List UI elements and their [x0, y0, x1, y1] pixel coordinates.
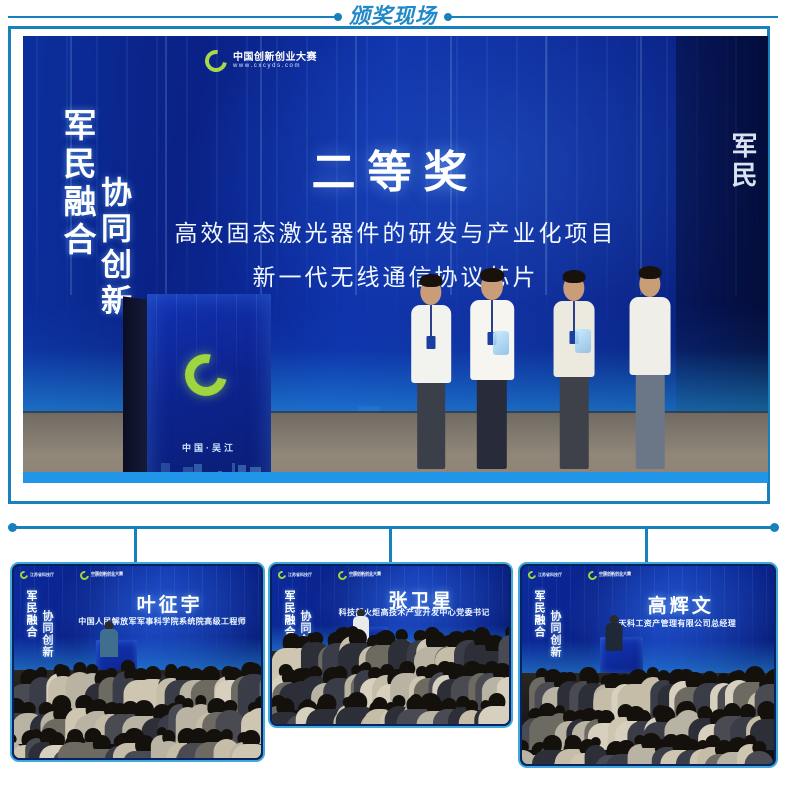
thumb3-slogan-b: 协同创新 [547, 610, 563, 658]
competition-c-mark-icon [201, 46, 232, 77]
connector-rule [12, 526, 775, 529]
thumbnail-row: 江苏省科技厅 中国创新创业大赛 www.cxcyds.com 军民融合 协同创新… [0, 556, 787, 786]
award-recipient-3 [543, 269, 605, 469]
award-recipient-4 [619, 265, 681, 469]
thumb3-speaker-name: 高辉文 [593, 591, 769, 618]
audience-member [478, 693, 509, 724]
thumb3-provincial-logo-label: 江苏省科技厅 [538, 572, 562, 578]
thumb3-audience [522, 673, 774, 764]
award-recipient-1 [401, 273, 461, 469]
thumb1-competition-logo-icon [78, 569, 91, 582]
thumb3-competition-url: www.cxcyds.com [599, 576, 631, 579]
thumb2-audience [272, 651, 509, 724]
thumbnail-speaker-1[interactable]: 江苏省科技厅 中国创新创业大赛 www.cxcyds.com 军民融合 协同创新… [10, 562, 265, 762]
thumb3-competition-logo-icon [586, 569, 599, 582]
connector-dot-right-icon [770, 523, 779, 532]
thumb3-competition-logo: 中国创新创业大赛 www.cxcyds.com [588, 571, 631, 580]
podium-location-label: 中国·吴江 [147, 441, 271, 454]
thumb2-competition-logo-icon [336, 569, 349, 582]
thumb2-competition-url: www.cxcyds.com [349, 576, 381, 579]
trophy-3 [575, 329, 591, 353]
thumbnail-speaker-3[interactable]: 江苏省科技厅 中国创新创业大赛 www.cxcyds.com 军民融合 协同创新… [518, 562, 778, 768]
thumb3-provincial-logo: 江苏省科技厅 [528, 571, 562, 579]
thumb1-speaker-name: 叶征宇 [83, 590, 256, 617]
header-rule-right [448, 16, 778, 18]
thumb1-competition-logo: 中国创新创业大赛 www.cxcyds.com [80, 571, 123, 580]
podium-face: 中国·吴江 [147, 294, 271, 483]
thumbnail-speaker-2[interactable]: 江苏省科技厅 中国创新创业大赛 www.cxcyds.com 军民融合 协同创新… [268, 562, 513, 728]
thumb1-audience [14, 670, 261, 758]
thumb2-provincial-logo-label: 江苏省科技厅 [288, 572, 312, 578]
photo-bottom-blue-strip [23, 472, 768, 483]
thumb1-provincial-logo-label: 江苏省科技厅 [30, 572, 54, 578]
thumb1-speaker-figure [96, 621, 123, 657]
audience-member [232, 730, 261, 758]
main-photo-frame: 中国创新创业大赛 www.cxcyds.com 军民融合 协同创新 军民 二等奖… [8, 26, 770, 504]
thumb1-slogan-a: 军民融合 [23, 590, 39, 638]
audience-member [745, 741, 774, 764]
thumb3-provincial-logo-icon [526, 569, 537, 580]
award-ceremony-main-photo[interactable]: 中国创新创业大赛 www.cxcyds.com 军民融合 协同创新 军民 二等奖… [23, 36, 768, 483]
trophy-2 [493, 331, 509, 355]
thumb3-slogan-a: 军民融合 [531, 590, 547, 638]
header-dot-left-icon [334, 13, 342, 21]
led-backdrop: 中国创新创业大赛 www.cxcyds.com 军民融合 协同创新 军民 二等奖… [23, 36, 768, 483]
thumb2-provincial-logo-icon [276, 569, 287, 580]
thumb3-speaker-figure [600, 615, 628, 652]
thumb2-competition-logo: 中国创新创业大赛 www.cxcyds.com [338, 571, 381, 580]
thumb1-competition-url: www.cxcyds.com [91, 576, 123, 579]
podium-side [123, 296, 149, 483]
thumb1-provincial-logo: 江苏省科技厅 [20, 571, 54, 579]
thumb2-provincial-logo: 江苏省科技厅 [278, 571, 312, 579]
thumb1-slogan-b: 协同创新 [39, 610, 55, 658]
thumbnail-connector [0, 513, 787, 561]
competition-logo: 中国创新创业大赛 www.cxcyds.com [205, 50, 317, 72]
award-project-line-1: 高效固态激光器件的研发与产业化项目 [23, 214, 768, 248]
award-recipient-2 [459, 267, 525, 469]
award-title-second-prize: 二等奖 [23, 136, 768, 200]
podium: 中国·吴江 [123, 294, 271, 483]
thumb1-provincial-logo-icon [18, 569, 29, 580]
competition-url-label: www.cxcyds.com [233, 63, 317, 70]
thumb2-slogan-a: 军民融合 [281, 590, 297, 638]
competition-name-label: 中国创新创业大赛 [233, 52, 317, 64]
header-rule-left [8, 16, 338, 18]
